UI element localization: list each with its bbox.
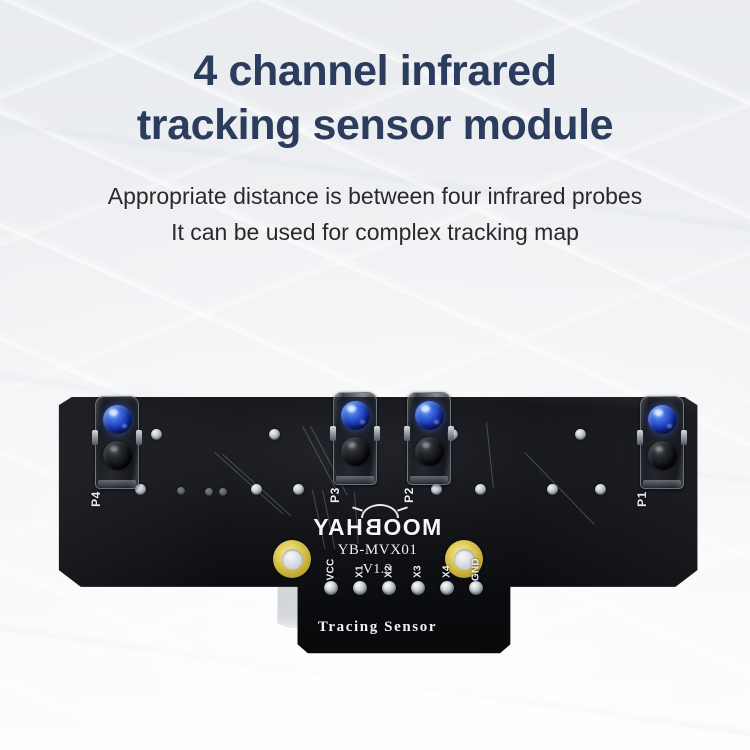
ir-emitter-led xyxy=(648,405,677,434)
ir-probe-p3 xyxy=(333,392,377,485)
probe-foot xyxy=(643,480,681,487)
ir-emitter-led xyxy=(103,405,132,434)
ir-probe-p1 xyxy=(640,396,684,489)
sensor-board-photo: YAHMOOB YB-MVX01 V1.2 Tracing Sensor VCC… xyxy=(55,392,700,654)
pad-label-x1: X1 xyxy=(355,560,366,584)
page-subtitle-line-2: It can be used for complex tracking map xyxy=(0,214,750,250)
pcb-via xyxy=(269,429,280,440)
pcb-via xyxy=(547,484,558,495)
ir-probe-p2 xyxy=(407,392,451,485)
probe-clip-left xyxy=(330,426,336,441)
ir-photodetector xyxy=(103,441,132,470)
ir-photodetector xyxy=(341,437,370,466)
pcb-via xyxy=(177,487,185,495)
pcb-via xyxy=(431,484,442,495)
probe-foot xyxy=(410,476,448,483)
pcb-via xyxy=(251,484,262,495)
pcb-via xyxy=(151,429,162,440)
pad-label-x4: X4 xyxy=(442,560,453,584)
probe-clip-right xyxy=(448,426,454,441)
probe-label-p4: P4 xyxy=(89,488,103,510)
probe-label-p1: P1 xyxy=(635,488,649,510)
pcb-via xyxy=(219,488,227,496)
page-subtitle-line-1: Appropriate distance is between four inf… xyxy=(108,183,642,209)
part-number-silkscreen: YB-MVX01 xyxy=(338,542,418,559)
page-title-line-2: tracking sensor module xyxy=(0,98,750,152)
header-text-block: 4 channel infrared tracking sensor modul… xyxy=(0,0,750,250)
pad-label-x3: X3 xyxy=(413,560,424,584)
pad-label-vcc: VCC xyxy=(326,558,337,582)
probe-foot xyxy=(98,480,136,487)
page-title-line-1: 4 channel infrared xyxy=(193,47,556,95)
pcb-via xyxy=(475,484,486,495)
mounting-hole-left xyxy=(273,540,311,578)
pcb-via xyxy=(595,484,606,495)
page-subtitle: Appropriate distance is between four inf… xyxy=(0,152,750,250)
probe-clip-left xyxy=(637,430,643,445)
product-image-canvas: 4 channel infrared tracking sensor modul… xyxy=(0,0,750,750)
ir-probe-p4 xyxy=(95,396,139,489)
pad-label-x2: X2 xyxy=(384,560,395,584)
pcb-via xyxy=(205,488,213,496)
header-pad-vcc xyxy=(324,581,338,595)
probe-foot xyxy=(336,476,374,483)
probe-label-p3: P3 xyxy=(328,484,342,506)
page-title: 4 channel infrared tracking sensor modul… xyxy=(0,0,750,152)
ir-emitter-led xyxy=(341,401,370,430)
probe-clip-left xyxy=(404,426,410,441)
function-label-silkscreen: Tracing Sensor xyxy=(318,619,437,636)
probe-clip-right xyxy=(374,426,380,441)
ir-photodetector xyxy=(415,437,444,466)
pcb-via xyxy=(575,429,586,440)
probe-clip-right xyxy=(136,430,142,445)
probe-clip-right xyxy=(681,430,687,445)
pad-label-gnd: GND xyxy=(471,558,482,582)
probe-clip-left xyxy=(92,430,98,445)
brand-logo-text: YAHMOOB xyxy=(313,514,442,541)
ir-photodetector xyxy=(648,441,677,470)
probe-label-p2: P2 xyxy=(402,484,416,506)
pcb-via xyxy=(293,484,304,495)
header-pad-gnd xyxy=(469,581,483,595)
ir-emitter-led xyxy=(415,401,444,430)
